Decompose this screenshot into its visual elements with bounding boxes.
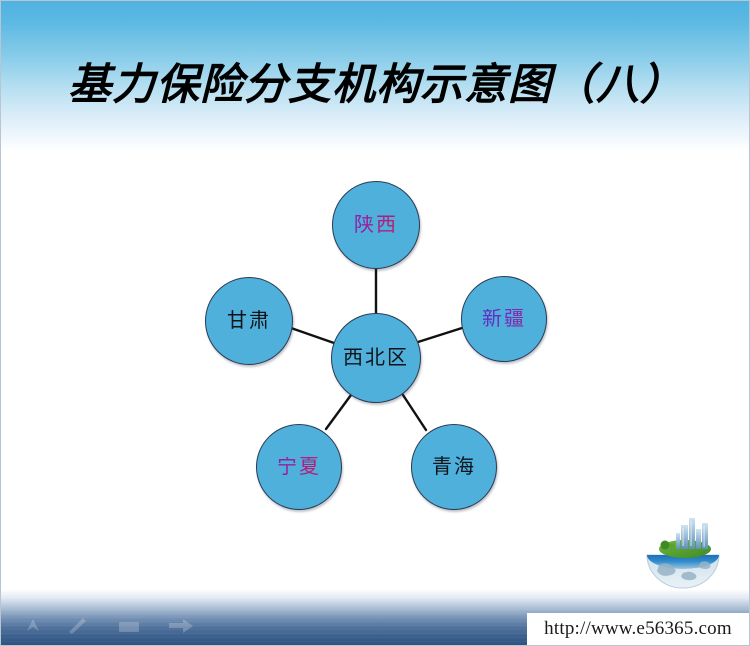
node-qinghai[interactable]: 青海 [411,424,497,510]
node-label-shaanxi: 陕西 [354,215,398,235]
node-label-xinjiang: 新疆 [482,309,526,329]
globe-city-logo [639,515,727,593]
edge-center-ningxia [326,395,351,429]
edge-center-qinghai [403,395,426,430]
edge-center-gansu [291,328,334,343]
org-chart-diagram: 西北区 陕西 甘肃 新疆 宁夏 青海 [1,1,750,646]
node-label-ningxia: 宁夏 [277,457,321,477]
node-xinjiang[interactable]: 新疆 [461,276,547,362]
node-gansu[interactable]: 甘肃 [205,277,293,365]
node-label-center: 西北区 [343,348,409,368]
watermark-url: http://www.e56365.com [544,618,732,640]
node-shaanxi[interactable]: 陕西 [332,181,420,269]
node-ningxia[interactable]: 宁夏 [256,424,342,510]
node-label-gansu: 甘肃 [227,311,271,331]
edge-center-xinjiang [418,328,462,342]
node-label-qinghai: 青海 [432,457,476,477]
slide-canvas: 基力保险分支机构示意图（八） 西北区 陕西 甘肃 新疆 宁夏 [0,0,750,646]
node-center-xibeiqu[interactable]: 西北区 [331,313,421,403]
watermark-url-band: http://www.e56365.com [527,613,749,645]
